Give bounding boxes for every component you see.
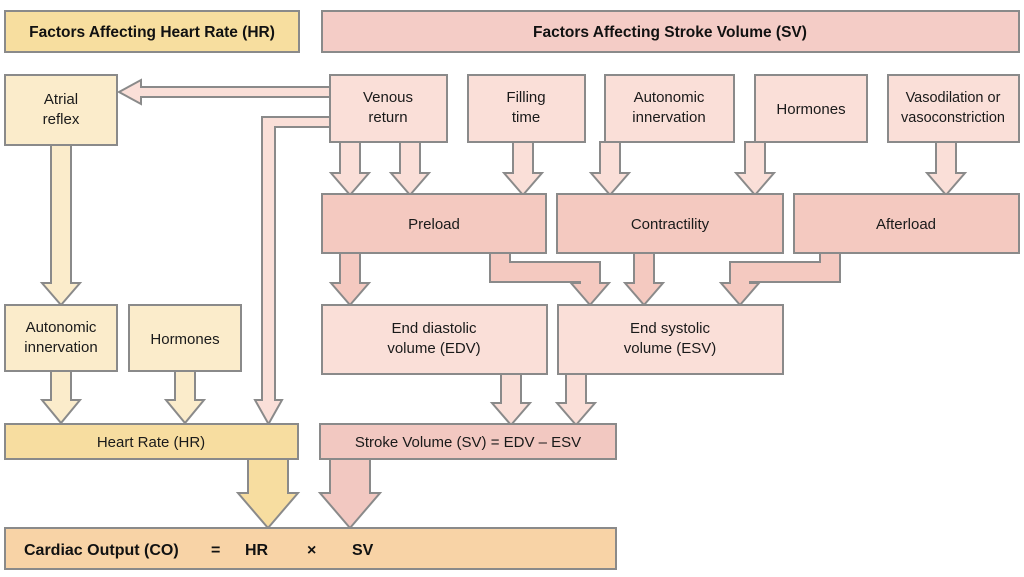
node-vasodilation-line2: vasoconstriction	[901, 110, 1005, 126]
node-heart-rate: Heart Rate (HR)	[5, 424, 298, 459]
cardiac-output-label: Cardiac Output (CO)	[24, 542, 179, 559]
cardiac-output-hr: HR	[245, 542, 269, 559]
node-contractility: Contractility	[557, 194, 783, 253]
node-autonomic-innervation-sv: Autonomic innervation	[605, 75, 734, 142]
node-hormones-hr: Hormones	[129, 305, 241, 371]
node-cardiac-output: Cardiac Output (CO) = HR × SV	[5, 528, 616, 569]
node-atrial-reflex-line1: Atrial	[44, 91, 78, 108]
connector-autonomic-innervation-to-contractility	[591, 142, 629, 195]
node-hormones-sv: Hormones	[755, 75, 867, 142]
connector-vasodilation-to-afterload	[927, 142, 965, 195]
node-stroke-volume-label: Stroke Volume (SV) = EDV – ESV	[355, 434, 581, 451]
header-banner-stroke-volume: Factors Affecting Stroke Volume (SV)	[322, 11, 1019, 52]
node-end-systolic-volume: End systolic volume (ESV)	[558, 305, 783, 374]
node-vasodilation-line1: Vasodilation or	[906, 90, 1001, 106]
node-esv-line2: volume (ESV)	[624, 340, 717, 357]
header-heart-rate-label: Factors Affecting Heart Rate (HR)	[29, 24, 275, 41]
cardiac-output-equals: =	[211, 542, 220, 559]
connector-preload-to-edv	[331, 253, 369, 305]
node-hormones-hr-label: Hormones	[150, 331, 219, 348]
connector-venous-return-to-heart-rate	[255, 117, 330, 424]
node-edv-line1: End diastolic	[391, 320, 477, 337]
connector-venous-return-to-preload-a	[331, 142, 369, 195]
connector-hormones-to-contractility	[736, 142, 774, 195]
connector-preload-to-esv	[490, 253, 609, 305]
node-end-diastolic-volume: End diastolic volume (EDV)	[322, 305, 547, 374]
node-autonomic-innervation-hr-line1: Autonomic	[26, 319, 97, 336]
connector-edv-to-stroke-volume	[492, 374, 530, 425]
node-contractility-label: Contractility	[631, 216, 710, 233]
flowchart-diagram: Factors Affecting Heart Rate (HR) Factor…	[0, 0, 1024, 577]
diagram-canvas: Factors Affecting Heart Rate (HR) Factor…	[0, 0, 1024, 577]
node-preload-label: Preload	[408, 216, 460, 233]
connector-afterload-to-esv	[721, 253, 840, 305]
node-filling-time: Filling time	[468, 75, 585, 142]
node-filling-time-line2: time	[512, 109, 540, 126]
connector-venous-return-to-preload-b	[391, 142, 429, 195]
node-stroke-volume: Stroke Volume (SV) = EDV – ESV	[320, 424, 616, 459]
header-stroke-volume-label: Factors Affecting Stroke Volume (SV)	[533, 24, 807, 41]
cardiac-output-times: ×	[307, 542, 316, 559]
node-filling-time-line1: Filling	[506, 89, 545, 106]
node-venous-return: Venous return	[330, 75, 447, 142]
cardiac-output-sv: SV	[352, 542, 374, 559]
node-atrial-reflex: Atrial reflex	[5, 75, 117, 145]
connector-hormones-to-heart-rate	[166, 371, 204, 423]
node-esv-line1: End systolic	[630, 320, 711, 337]
connector-atrial-reflex-to-autonomic-innervation	[42, 145, 80, 305]
node-heart-rate-label: Heart Rate (HR)	[97, 434, 205, 451]
node-edv-line2: volume (EDV)	[387, 340, 480, 357]
connector-esv-to-stroke-volume	[557, 374, 595, 425]
node-afterload-label: Afterload	[876, 216, 936, 233]
connector-stroke-volume-to-cardiac-output	[320, 459, 380, 528]
node-preload: Preload	[322, 194, 546, 253]
connector-contractility-to-esv	[625, 253, 663, 305]
node-afterload: Afterload	[794, 194, 1019, 253]
node-atrial-reflex-line2: reflex	[43, 111, 80, 128]
node-hormones-sv-label: Hormones	[776, 101, 845, 118]
node-venous-return-line1: Venous	[363, 89, 413, 106]
node-autonomic-innervation-sv-line2: innervation	[632, 109, 705, 126]
connector-autonomic-innervation-to-heart-rate	[42, 371, 80, 423]
header-banner-heart-rate: Factors Affecting Heart Rate (HR)	[5, 11, 299, 52]
connector-filling-time-to-preload	[504, 142, 542, 195]
node-autonomic-innervation-hr-line2: innervation	[24, 339, 97, 356]
node-vasodilation-vasoconstriction: Vasodilation or vasoconstriction	[888, 75, 1019, 142]
connector-heart-rate-to-cardiac-output	[238, 459, 298, 528]
node-autonomic-innervation-sv-line1: Autonomic	[634, 89, 705, 106]
node-venous-return-line2: return	[368, 109, 407, 126]
connector-venous-return-to-atrial-reflex	[119, 80, 330, 104]
node-autonomic-innervation-hr: Autonomic innervation	[5, 305, 117, 371]
